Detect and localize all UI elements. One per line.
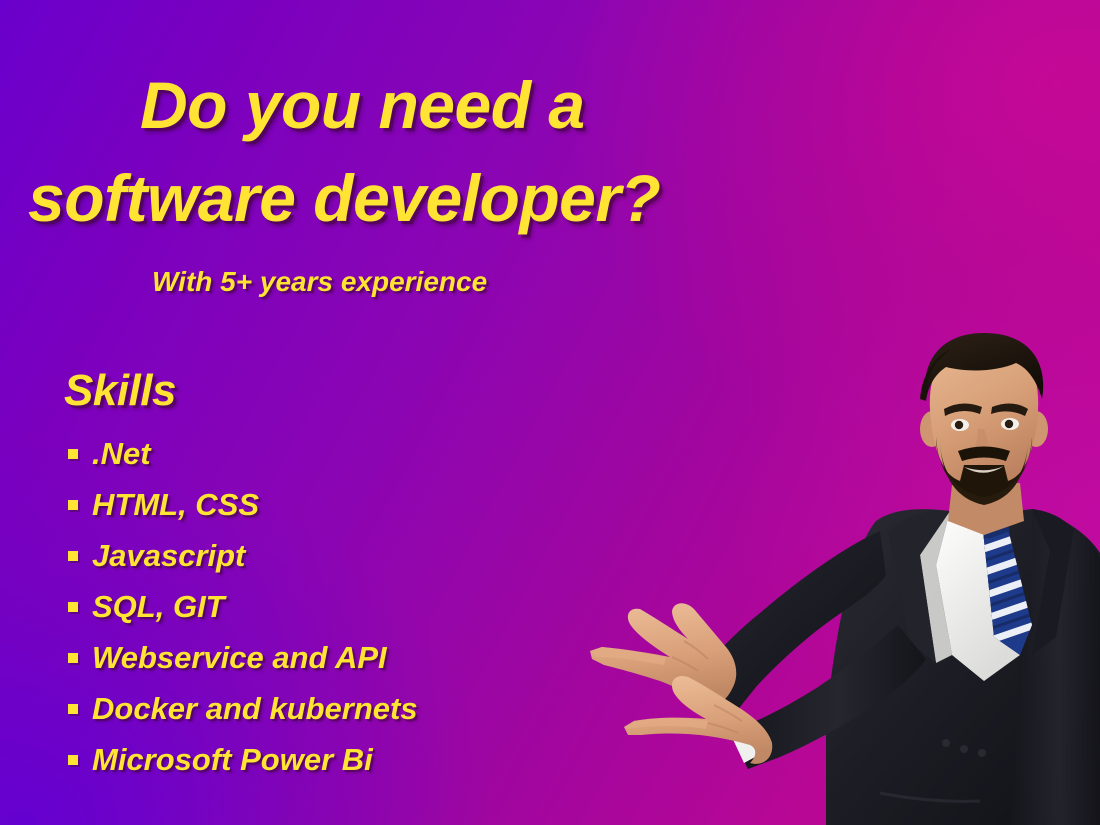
skill-item: Microsoft Power Bi [68,734,418,785]
skill-label: Webservice and API [92,640,387,676]
skill-label: .Net [92,436,151,472]
square-bullet-icon [68,704,78,714]
skill-item: SQL, GIT [68,581,418,632]
subheadline: With 5+ years experience [152,266,487,298]
skill-label: Microsoft Power Bi [92,742,373,778]
skill-label: HTML, CSS [92,487,259,523]
skill-item: Webservice and API [68,632,418,683]
skill-label: Javascript [92,538,245,574]
square-bullet-icon [68,449,78,459]
skill-item: HTML, CSS [68,479,418,530]
skill-label: SQL, GIT [92,589,225,625]
skills-section: Skills .Net HTML, CSS Javascript SQL, GI… [64,366,418,785]
skill-label: Docker and kubernets [92,691,418,727]
skill-item: Javascript [68,530,418,581]
square-bullet-icon [68,602,78,612]
square-bullet-icon [68,653,78,663]
skills-heading: Skills [64,366,418,416]
square-bullet-icon [68,551,78,561]
square-bullet-icon [68,755,78,765]
skills-list: .Net HTML, CSS Javascript SQL, GIT Webse… [68,428,418,785]
headline-line-2: software developer? [28,165,660,231]
poster-text: Do you need a software developer? With 5… [0,0,1100,825]
skill-item: .Net [68,428,418,479]
skill-item: Docker and kubernets [68,683,418,734]
promo-poster: Do you need a software developer? With 5… [0,0,1100,825]
headline-line-1: Do you need a [140,72,585,138]
square-bullet-icon [68,500,78,510]
